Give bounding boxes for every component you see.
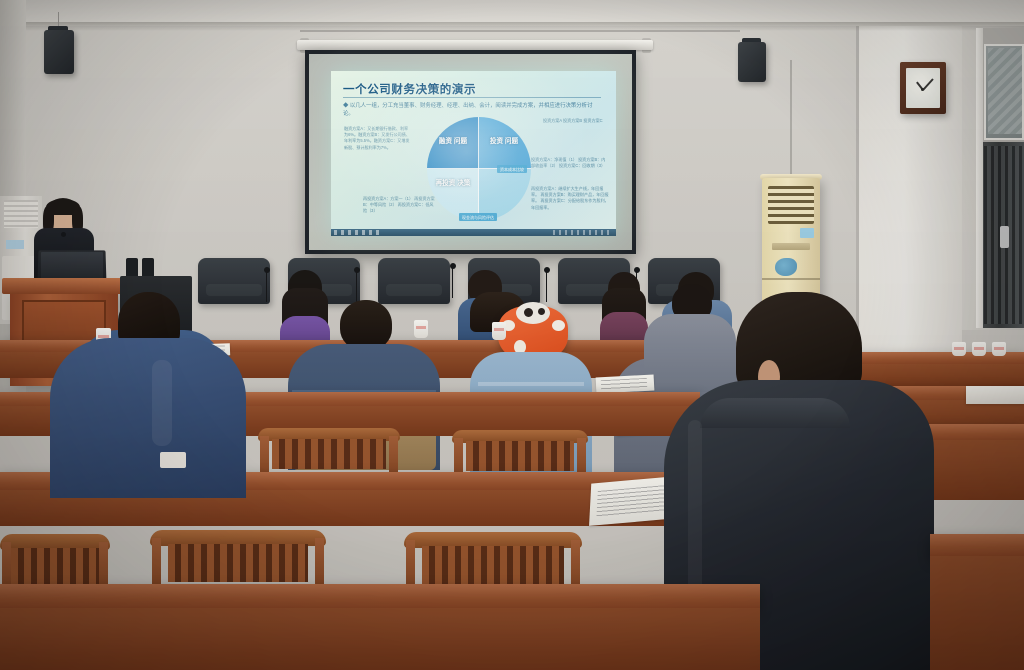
laptop-screen [41, 252, 103, 280]
hat-eye [538, 308, 545, 315]
pocket-paper [160, 452, 186, 468]
slide-text-left-top: 融资方案A：又长期银行借款、利率为6%。融资方案B：又发行公司债、年利率为5.5… [344, 126, 410, 151]
projected-slide: 一个公司财务决策的演示 ◆ 以几人一组，分工充当董事、财务经理、经理、出纳、会计… [331, 71, 616, 236]
ceiling-wire [300, 30, 740, 32]
ac-seam [762, 278, 820, 280]
hat-face-patch [516, 302, 550, 324]
desk-row-d-top [0, 584, 760, 610]
slide-bullet-text: ◆ 以几人一组，分工充当董事、财务经理、经理、出纳、会计，阅读并完成方案，并相应… [343, 102, 601, 118]
slide-divider [343, 97, 601, 98]
ac-badge [800, 228, 814, 238]
hat-ear [552, 320, 565, 331]
slide-text-right-top: 投资方案A 投资方案B 投资方案C [543, 118, 605, 124]
ac-louvers [768, 186, 814, 224]
desk-microphone [546, 272, 547, 302]
windows-taskbar [331, 229, 616, 236]
hat-eye [524, 308, 533, 317]
paper-cup [492, 322, 506, 340]
wall-clock [900, 62, 946, 114]
slide-title: 一个公司财务决策的演示 [343, 81, 583, 97]
screen-roller-housing [297, 40, 653, 50]
paper-cup [992, 342, 1006, 356]
presidium-chair[interactable] [378, 258, 450, 304]
taskbar-tray-icons [553, 230, 613, 235]
desk-microphone [452, 268, 453, 298]
presidium-chair[interactable] [198, 258, 270, 304]
taskbar-start-icons [334, 230, 380, 235]
desk-row-d-front [0, 608, 760, 670]
document-stack [966, 386, 1024, 404]
ac-control-panel[interactable] [772, 243, 810, 250]
paper-cup [972, 342, 986, 356]
desk-microphone [356, 272, 357, 302]
wall-speaker-left [44, 30, 74, 74]
podium-top [2, 278, 126, 294]
slide-text-right-bottom: 再投资方案A：继续扩大生产线，年回报率。 再投资方案B：购买理财产品，年回报率。… [531, 186, 611, 211]
slide-text-left-bottom: 再投资方案A：方案一（1） 再投资方案B：中等风险（2） 再投资方案C：低风险（… [363, 196, 435, 215]
frosted-glass [988, 48, 1022, 134]
donut-label-investment: 投资 问题 [483, 137, 525, 146]
ac-logo [775, 258, 797, 276]
paper-cup [414, 320, 428, 338]
donut-tag-right: 资本成本比较 [497, 165, 527, 173]
door-handle[interactable] [1000, 226, 1009, 248]
wall-speaker-right [738, 42, 766, 82]
side-desk-front [930, 556, 1024, 670]
desk-microphone [266, 272, 267, 302]
coat-hood [700, 398, 850, 428]
slide-text-right-mid: 投资方案A：净现值（1） 投资方案B：内部收益率（2） 投资方案C：回收期（3） [531, 157, 609, 169]
side-desk-top [930, 534, 1024, 558]
ac-conduit [790, 60, 792, 178]
lapel-microphone [61, 232, 66, 237]
cabinet-vent [4, 200, 38, 228]
cabinet-label [6, 240, 24, 249]
door-frame [976, 28, 983, 328]
handout-paper [596, 374, 655, 393]
clock-center-pin [921, 88, 924, 91]
donut-label-financing: 融资 问题 [432, 137, 474, 146]
lecture-hall-photo: 一个公司财务决策的演示 ◆ 以几人一组，分工充当董事、财务经理、经理、出纳、会计… [0, 0, 1024, 670]
paper-cup [952, 342, 966, 356]
donut-tag-bottom: 现金流与风险评估 [459, 213, 497, 221]
navy-jacket [50, 338, 246, 498]
donut-label-reinvestment: 再投资 决策 [432, 179, 474, 188]
